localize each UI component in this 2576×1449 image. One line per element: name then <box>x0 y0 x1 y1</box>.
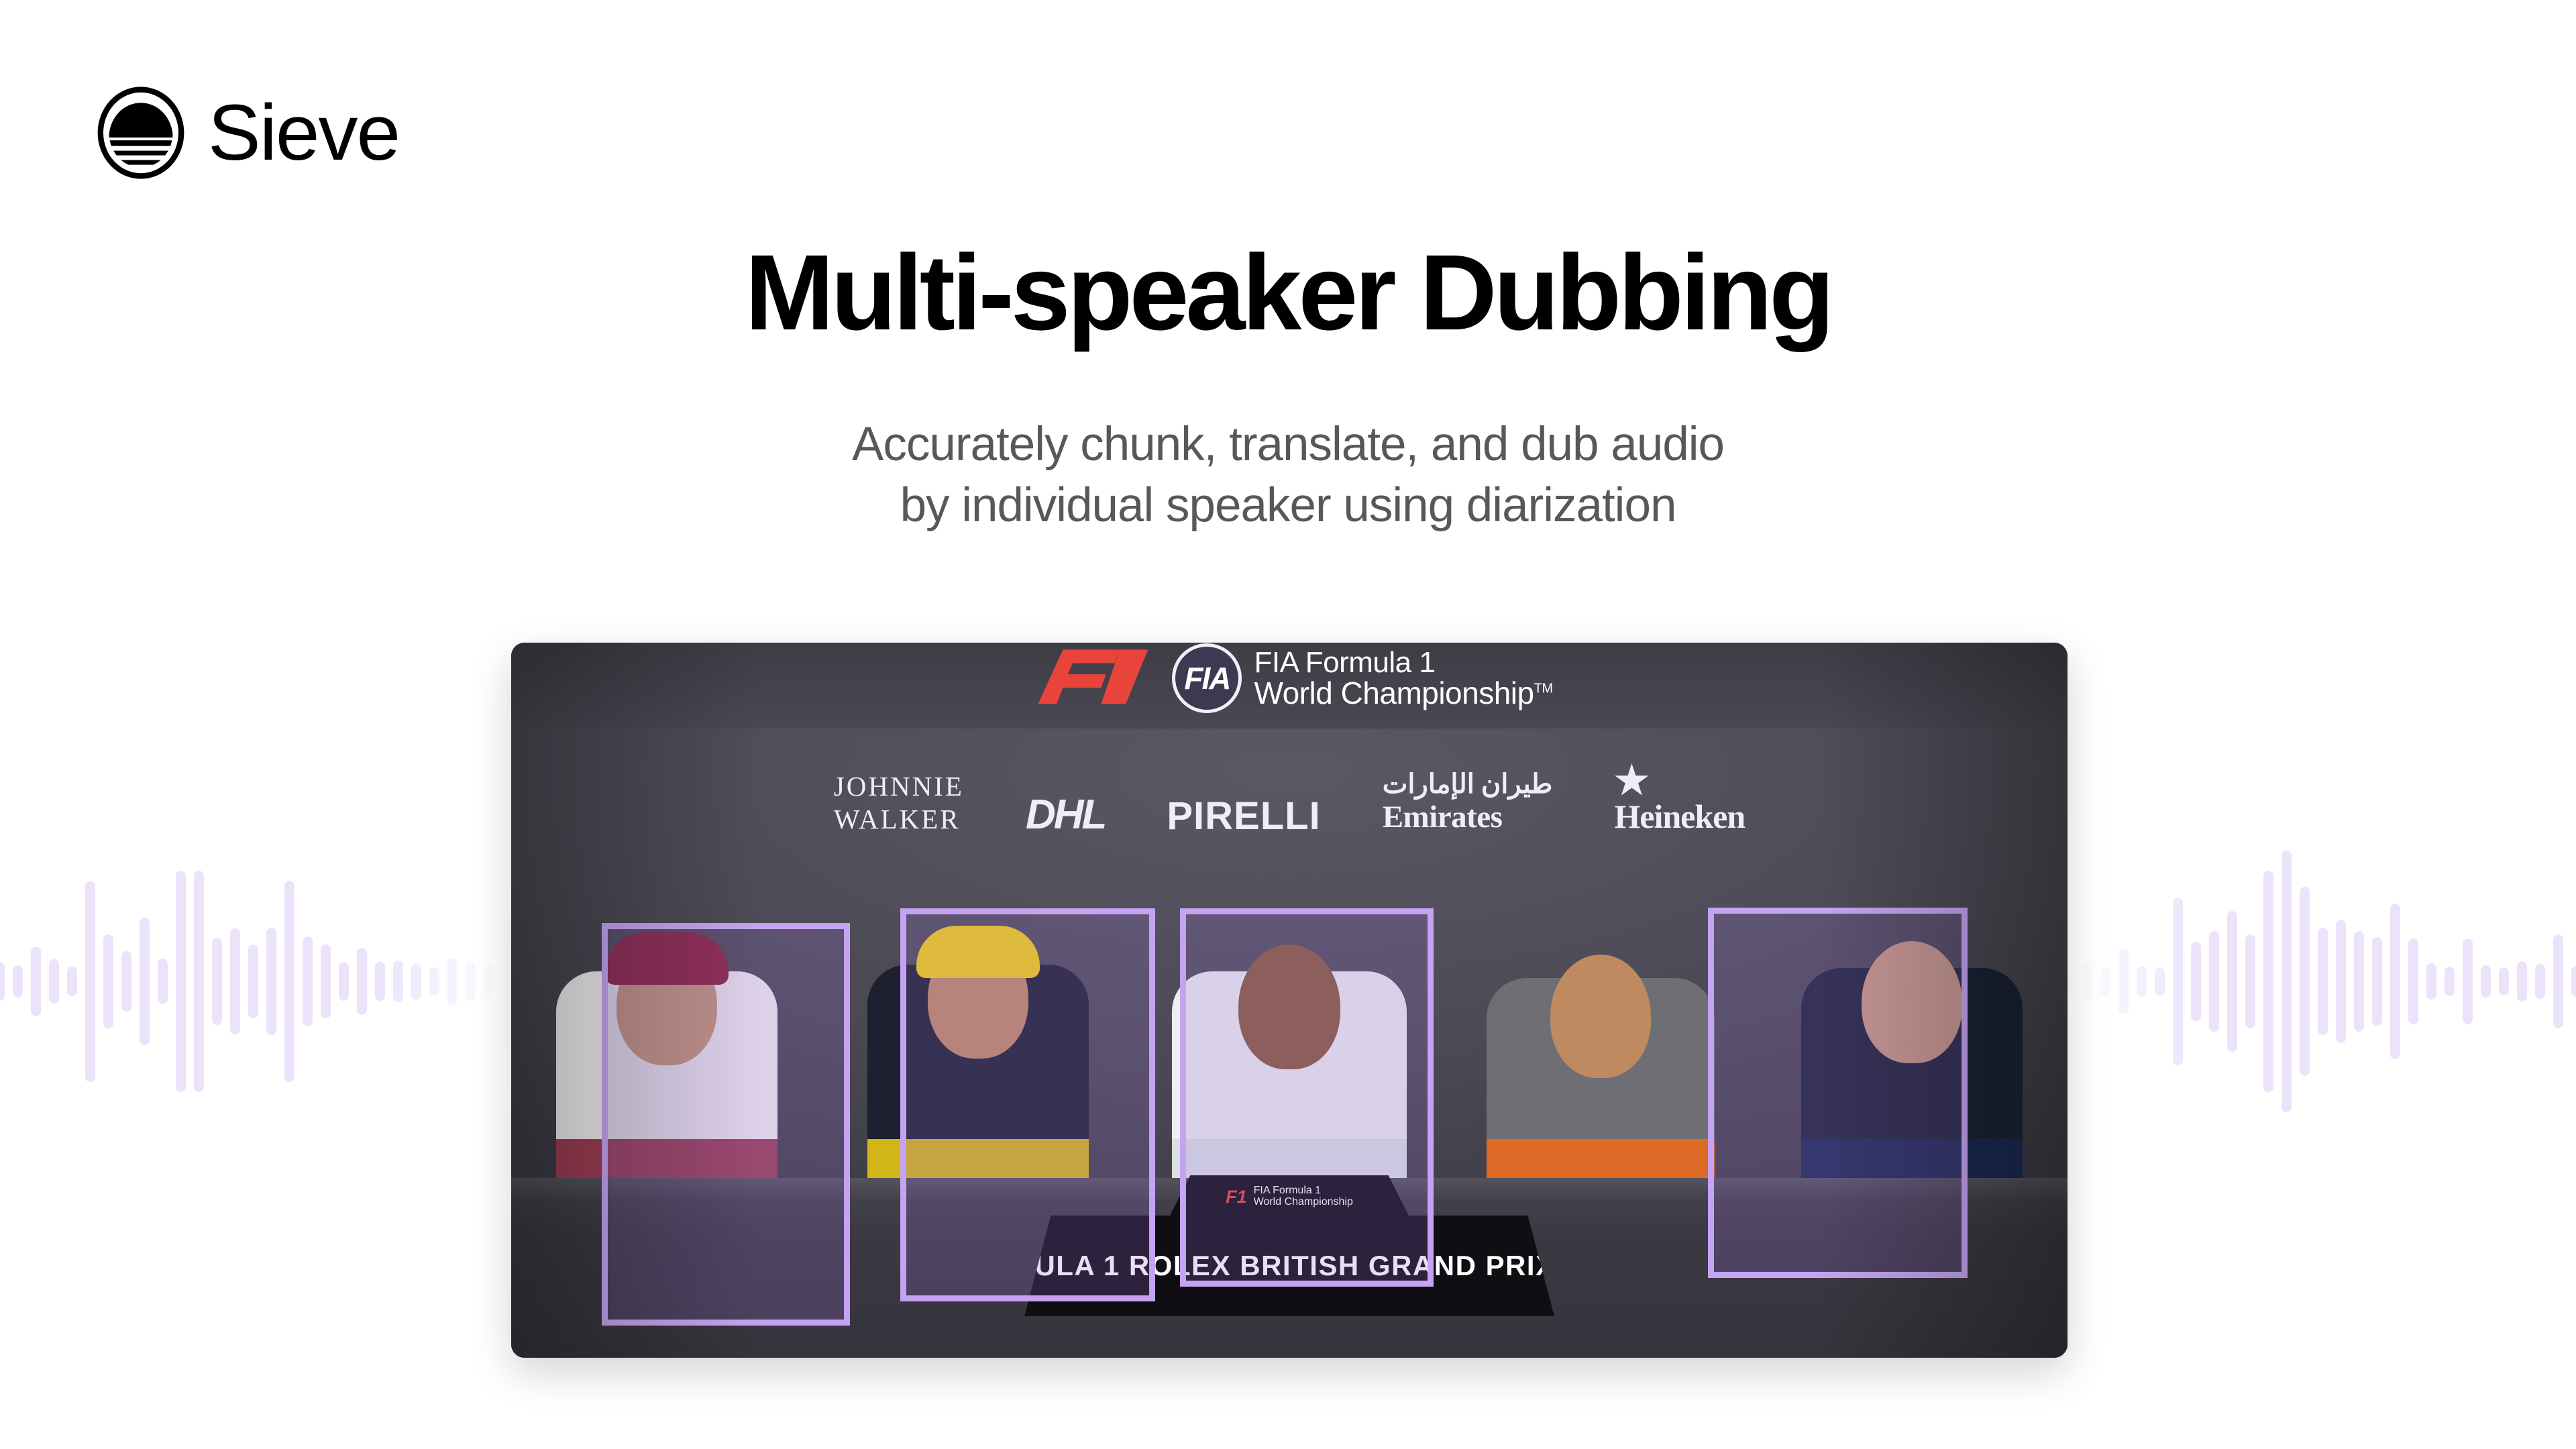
waveform-bar <box>2318 928 2328 1035</box>
waveform-bar <box>230 928 240 1034</box>
waveform-bar <box>303 936 313 1026</box>
waveform-bar <box>176 871 186 1092</box>
waveform-bar <box>2499 967 2509 996</box>
waveform-bar <box>2336 920 2346 1043</box>
waveform-bar <box>2173 898 2183 1065</box>
waveform-bar <box>194 871 204 1092</box>
waveform-bar <box>266 928 276 1035</box>
waveform-bar <box>2118 949 2129 1014</box>
waveform-bar <box>2445 967 2455 996</box>
waveform-bar <box>2282 851 2292 1112</box>
waveform-bar <box>2191 942 2201 1021</box>
waveform-bar <box>103 934 113 1028</box>
brand-logo[interactable]: Sieve <box>94 86 399 180</box>
waveform-bar <box>2390 904 2400 1059</box>
waveform-bar <box>321 945 331 1018</box>
waveform-bar <box>2408 938 2418 1024</box>
waveform-bar <box>2571 966 2576 997</box>
waveform-bar <box>212 938 222 1025</box>
waveform-bar <box>284 881 294 1082</box>
waveform-bar <box>2481 965 2491 998</box>
waveform-bar <box>140 918 150 1045</box>
audio-waveform-right <box>2046 713 2516 1250</box>
waveform-bar <box>411 963 421 1000</box>
waveform-bar <box>49 959 59 1004</box>
audio-waveform-left <box>60 713 530 1250</box>
stage-vignette <box>511 643 2068 1358</box>
waveform-bar <box>67 967 77 996</box>
waveform-bar <box>2137 966 2147 997</box>
waveform-fade-left <box>376 713 530 1250</box>
waveform-bar <box>2100 967 2110 996</box>
waveform-bar <box>429 967 439 996</box>
subtitle-line-1: Accurately chunk, translate, and dub aud… <box>0 415 2576 476</box>
waveform-bar <box>2263 871 2273 1092</box>
waveform-bar <box>2227 911 2237 1052</box>
waveform-bar <box>2245 934 2255 1028</box>
waveform-bar <box>2082 964 2092 999</box>
waveform-bar <box>121 951 131 1012</box>
waveform-bar <box>2463 938 2473 1024</box>
waveform-bar <box>0 962 5 1001</box>
waveform-bar <box>31 947 41 1016</box>
waveform-bar <box>502 914 512 1049</box>
page-subtitle: Accurately chunk, translate, and dub aud… <box>0 415 2576 537</box>
waveform-bar <box>2426 963 2436 1000</box>
waveform-bar <box>2372 937 2382 1026</box>
waveform-bar <box>2553 934 2563 1028</box>
waveform-bar <box>466 961 476 1002</box>
waveform-fade-right <box>2046 713 2200 1250</box>
waveform-bar <box>2354 931 2364 1032</box>
video-preview[interactable]: FIA FIA Formula 1 World ChampionshipTM J… <box>511 643 2068 1358</box>
waveform-bar <box>13 965 23 998</box>
waveform-bar <box>393 961 403 1002</box>
waveform-bar <box>484 964 494 999</box>
waveform-bar <box>447 958 458 1005</box>
page-root: Sieve Multi-speaker Dubbing Accurately c… <box>0 0 2576 1449</box>
page-title: Multi-speaker Dubbing <box>0 236 2576 349</box>
brand-name: Sieve <box>208 93 399 172</box>
subtitle-line-2: by individual speaker using diarization <box>0 476 2576 537</box>
waveform-bar <box>2209 931 2219 1032</box>
sieve-sunset-circle-logo <box>94 86 188 180</box>
waveform-bar <box>375 962 385 1001</box>
waveform-bar <box>339 962 349 1001</box>
waveform-bar <box>2535 964 2545 999</box>
waveform-bar <box>357 948 367 1015</box>
waveform-bar <box>2300 887 2310 1076</box>
waveform-bar <box>2155 967 2165 996</box>
waveform-bar <box>248 945 258 1018</box>
waveform-bar <box>85 881 95 1082</box>
waveform-bar <box>158 959 168 1004</box>
waveform-bar <box>2517 961 2527 1002</box>
